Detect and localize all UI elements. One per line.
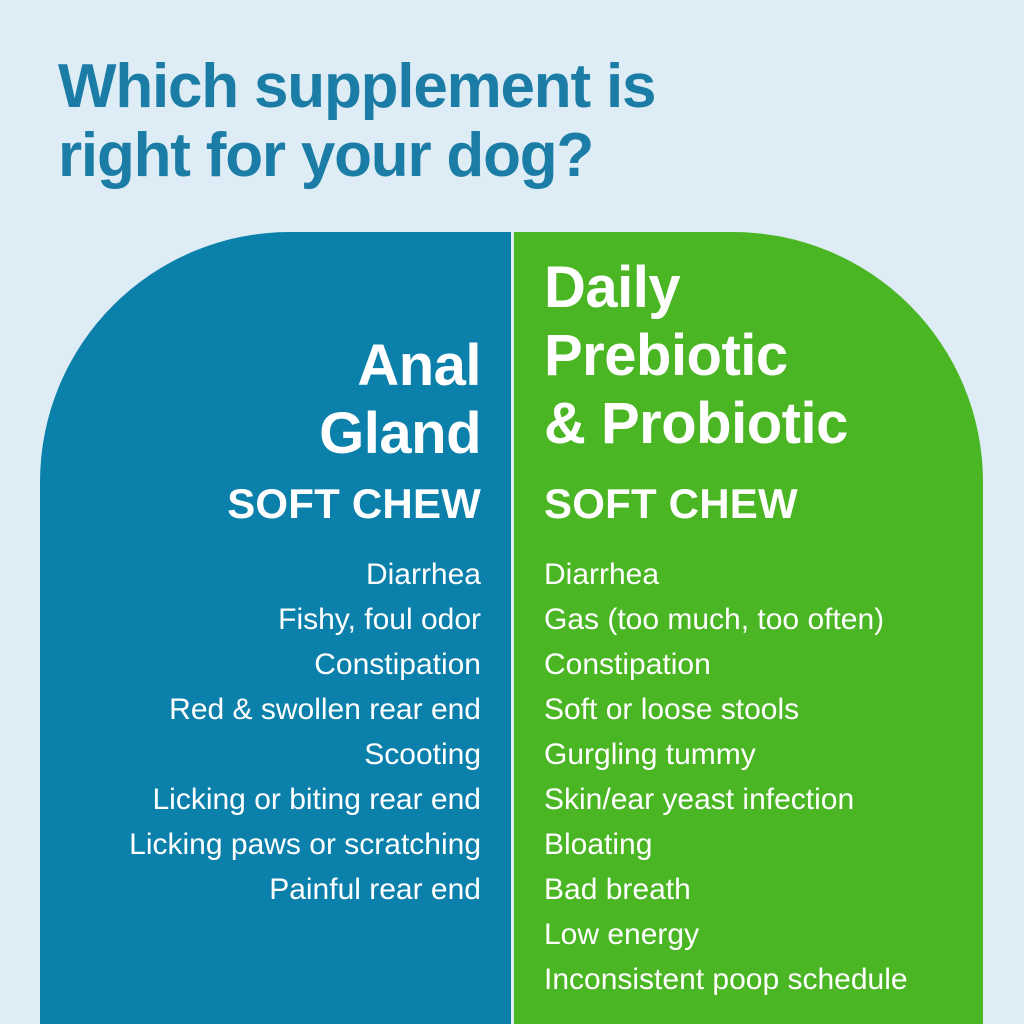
list-item: Bad breath — [544, 867, 973, 912]
product-subtitle-anal-gland: SOFT CHEW — [227, 480, 481, 528]
list-item: Gas (too much, too often) — [544, 597, 973, 642]
product-subtitle-daily-prebiotic-probiotic: SOFT CHEW — [544, 480, 798, 528]
list-item: Scooting — [62, 732, 481, 777]
list-item: Constipation — [544, 642, 973, 687]
list-item: Licking paws or scratching — [62, 822, 481, 867]
panel-anal-gland-content: Anal Gland SOFT CHEW Diarrhea Fishy, fou… — [40, 232, 511, 1024]
panel-anal-gland: Anal Gland SOFT CHEW Diarrhea Fishy, fou… — [40, 232, 511, 1024]
list-item: Gurgling tummy — [544, 732, 973, 777]
product-title-daily-prebiotic-probiotic: Daily Prebiotic & Probiotic — [544, 254, 848, 458]
list-item: Painful rear end — [62, 867, 481, 912]
list-item: Bloating — [544, 822, 973, 867]
infographic-root: Which supplement is right for your dog? … — [0, 0, 1024, 1024]
product-title-anal-gland: Anal Gland — [319, 332, 481, 468]
page-title: Which supplement is right for your dog? — [58, 52, 898, 191]
list-item: Inconsistent poop schedule — [544, 957, 973, 1002]
list-item: Licking or biting rear end — [62, 777, 481, 822]
list-item: Fishy, foul odor — [62, 597, 481, 642]
list-item: Red & swollen rear end — [62, 687, 481, 732]
list-item: Diarrhea — [62, 552, 481, 597]
list-item: Constipation — [62, 642, 481, 687]
list-item: Low energy — [544, 912, 973, 957]
symptom-list-anal-gland: Diarrhea Fishy, foul odor Constipation R… — [62, 552, 481, 912]
list-item: Diarrhea — [544, 552, 973, 597]
list-item: Skin/ear yeast infection — [544, 777, 973, 822]
panel-daily-prebiotic-probiotic-content: Daily Prebiotic & Probiotic SOFT CHEW Di… — [514, 232, 983, 1024]
comparison-panels: Anal Gland SOFT CHEW Diarrhea Fishy, fou… — [0, 232, 1024, 1024]
panel-daily-prebiotic-probiotic: Daily Prebiotic & Probiotic SOFT CHEW Di… — [514, 232, 983, 1024]
list-item: Soft or loose stools — [544, 687, 973, 732]
symptom-list-daily-prebiotic-probiotic: Diarrhea Gas (too much, too often) Const… — [544, 552, 973, 1002]
